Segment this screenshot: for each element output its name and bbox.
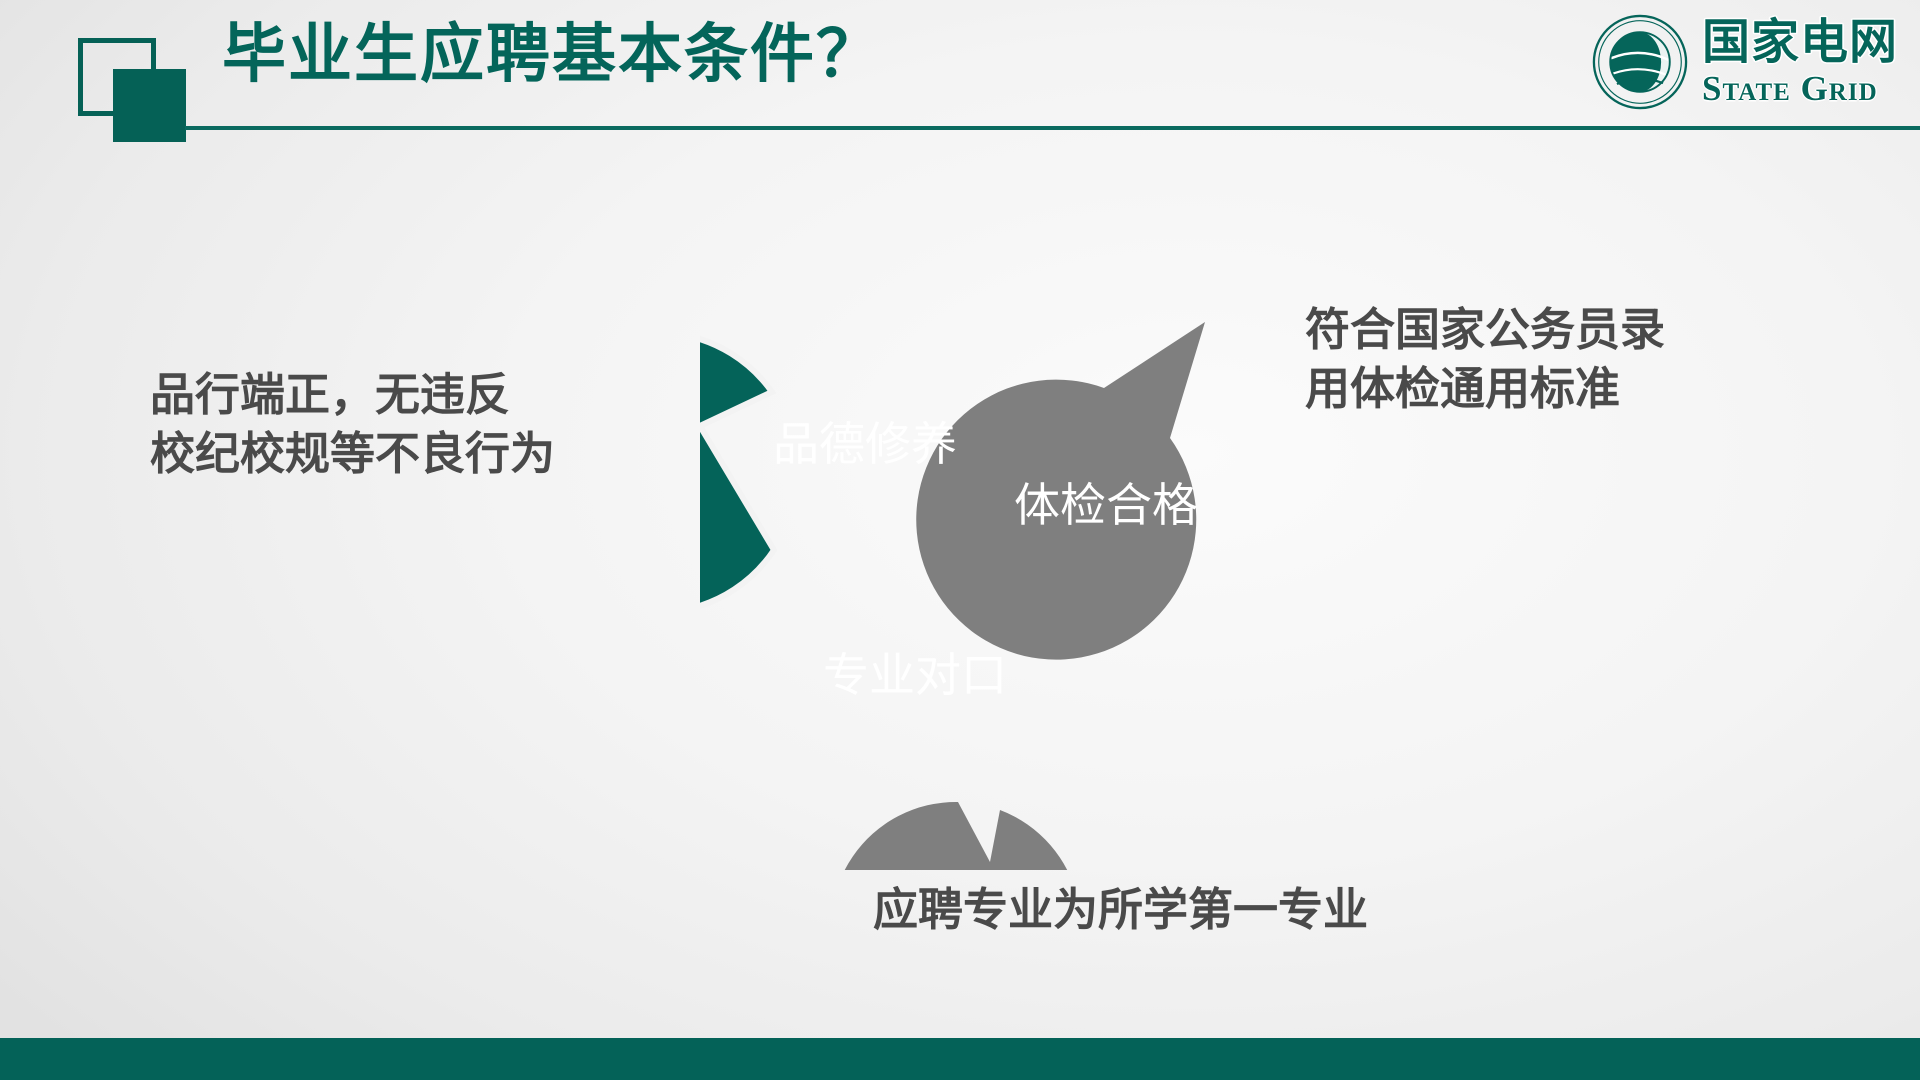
bubble-label-medical: 体检合格: [1014, 469, 1198, 535]
state-grid-logo: 国家电网 State Grid: [1592, 10, 1898, 114]
state-grid-globe-icon: [1592, 14, 1688, 110]
title-underline-rule: [185, 126, 1920, 130]
decoration-square-filled: [113, 69, 186, 142]
logo-chinese-name: 国家电网: [1702, 19, 1898, 67]
slide-header: 毕业生应聘基本条件？ 国家电网 State Grid: [0, 0, 1920, 132]
page-title: 毕业生应聘基本条件？: [222, 18, 882, 92]
note-right-medical: 符合国家公务员录 用体检通用标准: [1305, 300, 1665, 419]
bubble-label-moral: 品德修养: [773, 408, 957, 474]
bubble-label-major: 专业对口: [823, 639, 1007, 705]
three-circle-callout-diagram: [700, 250, 1320, 870]
note-bottom-major: 应聘专业为所学第一专业: [873, 880, 1368, 939]
slide-root: 毕业生应聘基本条件？ 国家电网 State Grid 品德修养 体检合格 专业: [0, 0, 1920, 1080]
logo-wordmark: 国家电网 State Grid: [1702, 19, 1898, 106]
bubble-shape-major: [831, 802, 1081, 870]
bubble-shape-moral: [700, 332, 774, 612]
footer-bar: [0, 1038, 1920, 1080]
note-left-moral: 品行端正，无违反 校纪校规等不良行为: [150, 365, 555, 484]
logo-english-name: State Grid: [1702, 71, 1878, 106]
